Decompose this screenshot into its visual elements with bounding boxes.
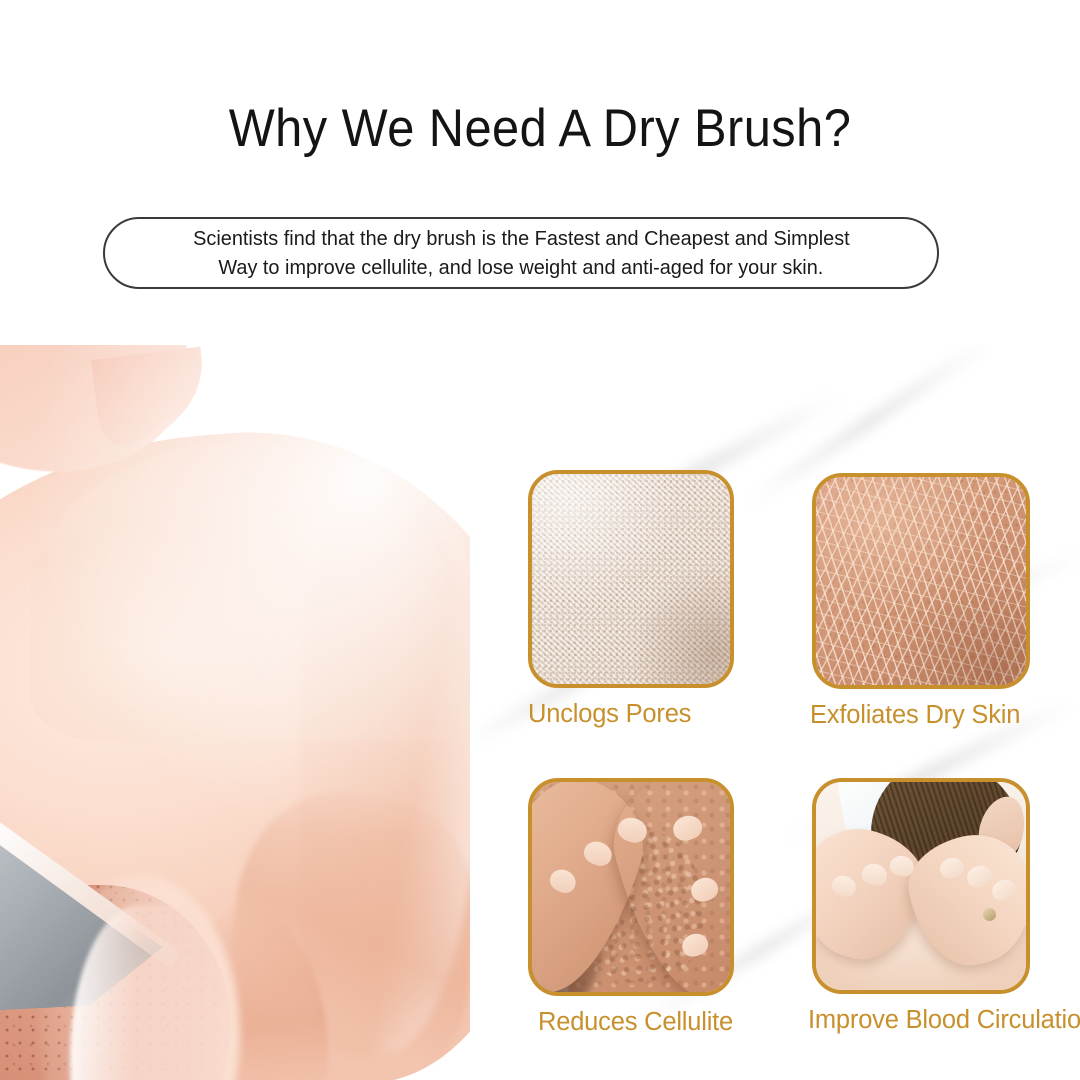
benefits-grid: Unclogs Pores Exfoliates Dry Skin	[500, 450, 1080, 1050]
benefit-card-improve-blood-circulation[interactable]: Improve Blood Circulation	[812, 778, 1080, 1035]
neck-massage-image	[816, 782, 1026, 990]
hero-vignette	[0, 345, 470, 1080]
skin-pores-image	[532, 474, 730, 684]
benefit-image-frame	[812, 473, 1030, 689]
benefit-image-frame	[528, 778, 734, 996]
benefit-image-frame	[812, 778, 1030, 994]
callout-line-2: Way to improve cellulite, and lose weigh…	[219, 253, 824, 282]
page-title: Why We Need A Dry Brush?	[43, 98, 1037, 159]
hero-photo	[0, 345, 470, 1080]
benefit-card-reduces-cellulite[interactable]: Reduces Cellulite	[528, 778, 734, 1037]
product-infographic-page: Why We Need A Dry Brush? Scientists find…	[0, 0, 1080, 1080]
benefit-card-exfoliates-dry-skin[interactable]: Exfoliates Dry Skin	[812, 473, 1030, 730]
callout-line-1: Scientists find that the dry brush is th…	[193, 224, 850, 253]
benefit-image-frame	[528, 470, 734, 688]
ring	[983, 908, 996, 921]
benefit-caption: Reduces Cellulite	[538, 1008, 734, 1037]
cellulite-image	[532, 782, 730, 992]
dry-skin-image	[816, 477, 1026, 685]
callout-box: Scientists find that the dry brush is th…	[103, 217, 939, 289]
benefit-caption: Unclogs Pores	[528, 700, 734, 729]
benefit-card-unclogs-pores[interactable]: Unclogs Pores	[528, 470, 734, 729]
benefit-caption: Improve Blood Circulation	[808, 1006, 1080, 1035]
benefit-caption: Exfoliates Dry Skin	[810, 701, 1030, 730]
